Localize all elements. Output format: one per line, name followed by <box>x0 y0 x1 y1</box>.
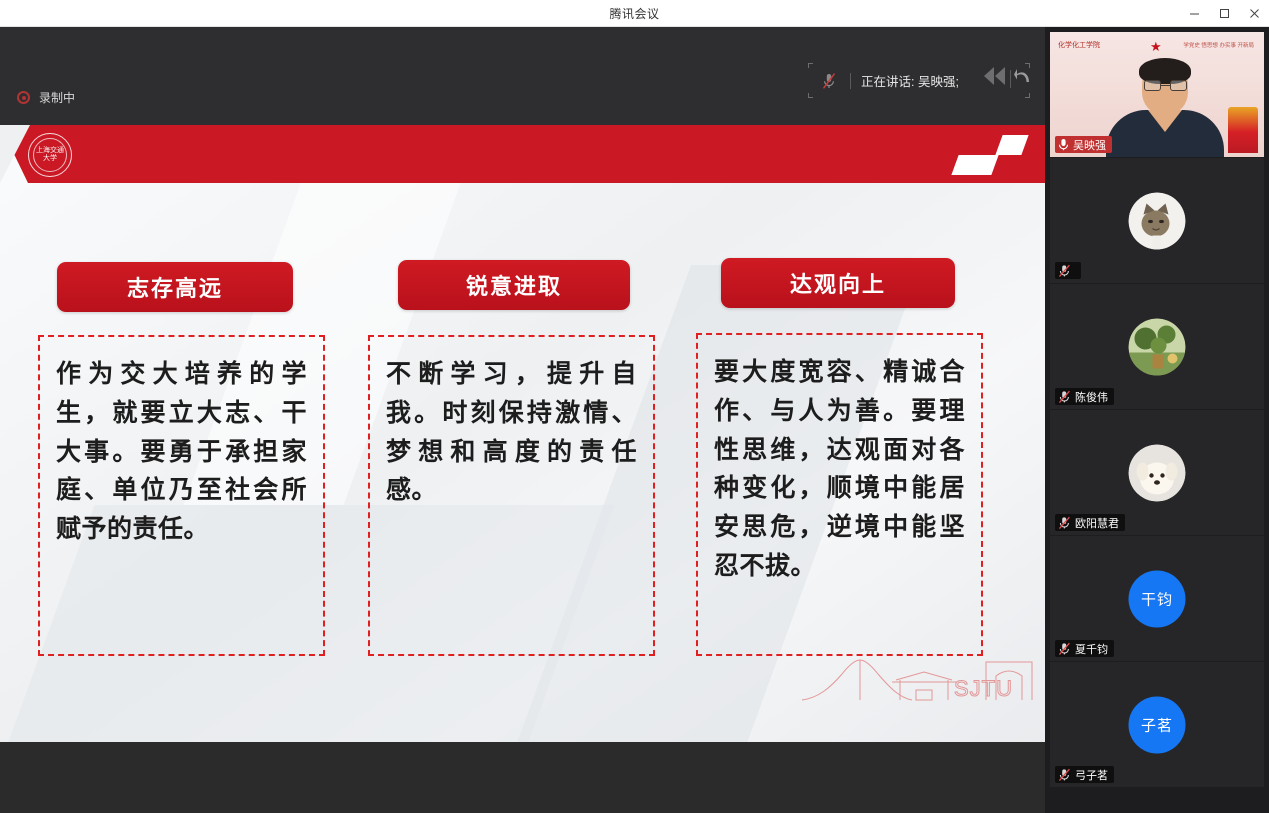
participant-tile-2[interactable]: 陈俊伟 <box>1050 284 1264 409</box>
avatar <box>1129 444 1186 501</box>
participant-tile-4[interactable]: 干钧 夏千钧 <box>1050 536 1264 661</box>
column-text-3: 要大度宽容、精诚合作、与人为善。要理性思维，达观面对各种变化，顺境中能居安思危，… <box>714 353 965 586</box>
minimize-button[interactable] <box>1179 0 1209 27</box>
divider <box>850 73 851 89</box>
avatar-initials-5: 子茗 <box>1141 714 1173 735</box>
panel-corner <box>808 63 813 68</box>
participant-name-0: 吴映强 <box>1073 137 1106 153</box>
stage-bottom-filler <box>0 742 1045 813</box>
person-glasses <box>1144 80 1187 91</box>
mic-on-icon <box>1058 138 1069 151</box>
sjtu-seal-icon: 上海交通大学 <box>28 133 72 177</box>
close-button[interactable] <box>1239 0 1269 27</box>
participant-name-3: 欧阳慧君 <box>1075 515 1119 531</box>
slide-column-2: 不断学习，提升自我。时刻保持激情、梦想和高度的责任感。 <box>368 335 655 656</box>
heading-text-3: 达观向上 <box>790 267 886 299</box>
stage-navigation <box>982 65 1033 92</box>
participant-tile-3[interactable]: 欧阳慧君 <box>1050 410 1264 535</box>
slide-banner <box>0 125 1045 183</box>
participant-name-badge-3: 欧阳慧君 <box>1055 514 1125 531</box>
participant-name-5: 弓子茗 <box>1075 767 1108 783</box>
shared-screen-stage: 录制中 正在讲话: 吴映强; <box>0 27 1045 813</box>
participant-name-badge-1 <box>1055 262 1081 279</box>
participant-tile-5[interactable]: 子茗 弓子茗 <box>1050 662 1264 787</box>
heading-text-2: 锐意进取 <box>466 269 562 301</box>
participant-tile-0[interactable]: 化学化工学院 ★ 学党史 悟思想 办实事 开新局 吴映强 <box>1050 32 1264 157</box>
undo-arrow-icon[interactable] <box>1013 66 1033 91</box>
party-emblem-icon: ★ <box>1150 40 1166 54</box>
close-icon <box>1249 8 1260 19</box>
mic-muted-icon <box>1058 642 1071 656</box>
record-dot-icon <box>17 91 30 104</box>
heading-box-1: 志存高远 <box>57 262 293 312</box>
sjtu-campus-watermark-icon: SJTU <box>800 650 1035 705</box>
avatar: 干钧 <box>1129 570 1186 627</box>
banner-marks <box>947 131 1031 177</box>
video-banner-right-text: 学党史 悟思想 办实事 开新局 <box>1183 42 1254 50</box>
recording-label: 录制中 <box>39 89 75 106</box>
participant-sidebar[interactable]: 化学化工学院 ★ 学党史 悟思想 办实事 开新局 吴映强 <box>1045 27 1269 813</box>
avatar <box>1129 318 1186 375</box>
slide-headings: 志存高远 锐意进取 达观向上 <box>0 260 1045 322</box>
panel-corner <box>1025 93 1030 98</box>
heading-box-2: 锐意进取 <box>398 260 630 310</box>
heading-text-1: 志存高远 <box>127 271 223 303</box>
video-banner-left-text: 化学化工学院 <box>1058 40 1100 50</box>
mic-muted-icon <box>1058 516 1071 530</box>
participant-name-badge-5: 弓子茗 <box>1055 766 1114 783</box>
column-text-2: 不断学习，提升自我。时刻保持激情、梦想和高度的责任感。 <box>386 355 637 510</box>
flag-decoration <box>1228 107 1258 153</box>
watermark-text: SJTU <box>954 676 1013 701</box>
participant-name-2: 陈俊伟 <box>1075 389 1108 405</box>
presentation-slide: 上海交通大学 志存高远 锐意进取 达观向上 作为交大培养的学生，就要立 <box>0 125 1045 742</box>
avatar-initials-4: 干钧 <box>1141 588 1173 609</box>
slide-column-3: 要大度宽容、精诚合作、与人为善。要理性思维，达观面对各种变化，顺境中能居安思危，… <box>696 333 983 656</box>
banner-mark-shape <box>995 135 1028 155</box>
banner-mark-shape <box>951 155 998 175</box>
maximize-icon <box>1219 8 1230 19</box>
recording-indicator: 录制中 <box>17 89 75 106</box>
mic-muted-icon <box>1058 264 1071 278</box>
panel-corner <box>808 93 813 98</box>
participant-name-badge-0: 吴映强 <box>1055 136 1112 153</box>
participant-tile-1[interactable] <box>1050 158 1264 283</box>
mic-muted-icon <box>1058 768 1071 782</box>
mic-muted-icon[interactable] <box>818 72 840 90</box>
sidebar-scrollbar[interactable] <box>1265 27 1269 813</box>
mic-muted-icon <box>1058 390 1071 404</box>
avatar: 子茗 <box>1129 696 1186 753</box>
title-bar: 腾讯会议 <box>0 0 1269 27</box>
slide-column-1: 作为交大培养的学生，就要立大志、干大事。要勇于承担家庭、单位乃至社会所赋予的责任… <box>38 335 325 656</box>
meeting-toolbar: 录制中 正在讲话: 吴映强; <box>0 27 1045 125</box>
participant-name-badge-2: 陈俊伟 <box>1055 388 1114 405</box>
participant-name-badge-4: 夏千钧 <box>1055 640 1114 657</box>
participant-name-4: 夏千钧 <box>1075 641 1108 657</box>
sjtu-seal-text: 上海交通大学 <box>33 138 67 172</box>
window-controls <box>1179 0 1269 27</box>
slide-columns: 作为交大培养的学生，就要立大志、干大事。要勇于承担家庭、单位乃至社会所赋予的责任… <box>0 335 1045 660</box>
avatar <box>1129 192 1186 249</box>
tencent-meeting-window: 腾讯会议 录制中 <box>0 0 1269 813</box>
double-chevron-left-icon[interactable] <box>982 65 1008 92</box>
column-text-1: 作为交大培养的学生，就要立大志、干大事。要勇于承担家庭、单位乃至社会所赋予的责任… <box>56 355 307 549</box>
minimize-icon <box>1189 8 1200 19</box>
window-title: 腾讯会议 <box>609 5 659 22</box>
maximize-button[interactable] <box>1209 0 1239 27</box>
active-speaker-text: 正在讲话: 吴映强; <box>861 71 959 90</box>
heading-box-3: 达观向上 <box>721 258 955 308</box>
